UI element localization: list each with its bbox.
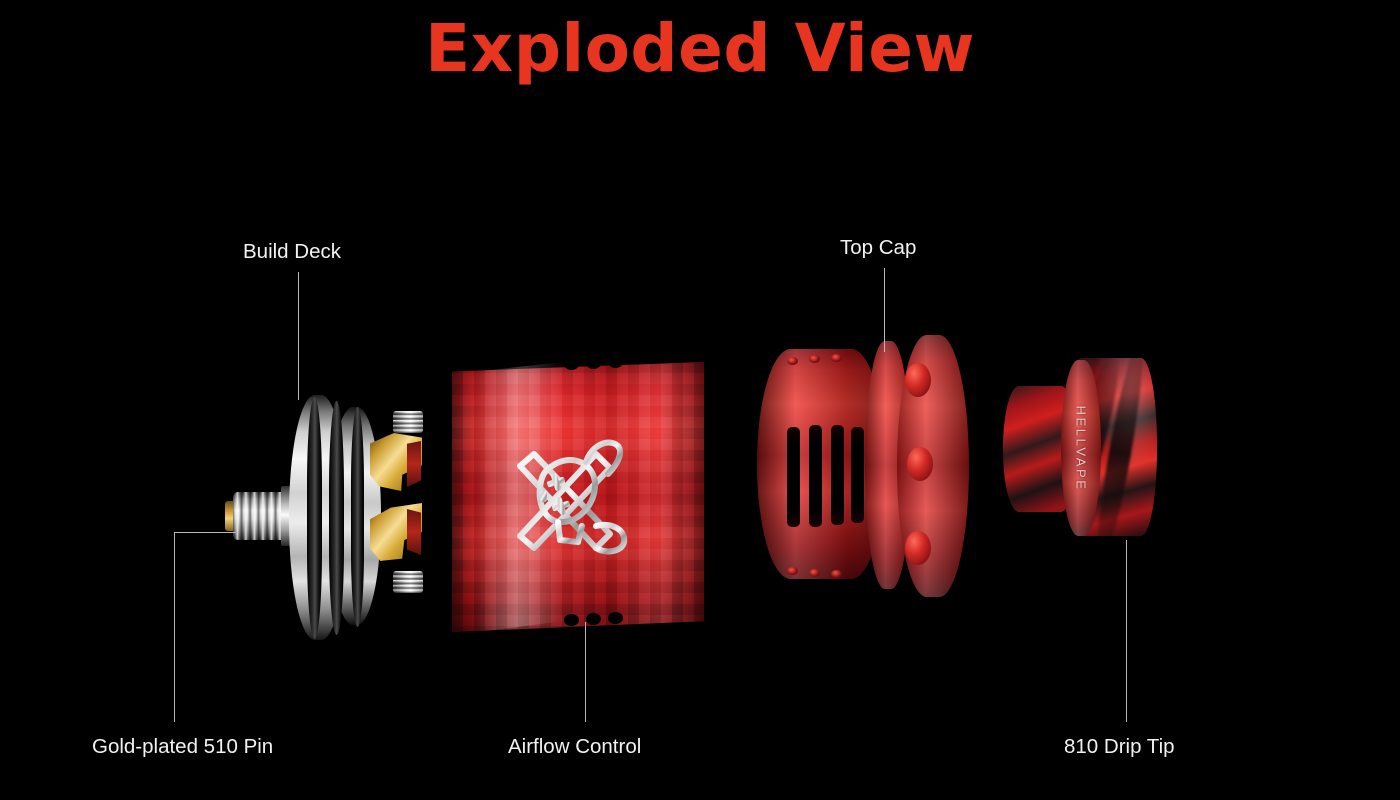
callout-label-airflow-control: Airflow Control: [508, 735, 641, 759]
leader-line-build-deck: [298, 272, 299, 400]
callout-label-build-deck: Build Deck: [243, 240, 341, 264]
component-build-deck[interactable]: [225, 385, 425, 650]
leader-line-airflow-control: [585, 622, 586, 722]
rim-vent-hole: [809, 355, 820, 363]
leader-line-top-cap: [884, 268, 885, 352]
leader-line-510-pin-vertical: [174, 532, 175, 722]
callout-label-top-cap: Top Cap: [840, 236, 916, 260]
hellvape-skull-logo-icon: [500, 422, 640, 572]
rim-notch: [564, 614, 579, 626]
leader-line-drip-tip: [1126, 540, 1127, 722]
post-insulator: [407, 509, 421, 555]
o-ring: [329, 401, 344, 635]
knurl-dimple: [905, 531, 931, 565]
rim-notch: [586, 613, 601, 625]
knurl-dimple: [905, 363, 931, 397]
callout-label-drip-tip: 810 Drip Tip: [1064, 735, 1175, 759]
post-screw: [393, 571, 423, 593]
brand-engraving: HELLVAPE: [1061, 360, 1101, 536]
post-screw: [393, 411, 423, 433]
knurl-dimple: [907, 447, 933, 481]
rim-vent-hole: [787, 357, 798, 365]
airflow-slot: [851, 427, 864, 523]
rim-notch: [608, 612, 623, 624]
airflow-slot: [831, 425, 844, 525]
brand-text: HELLVAPE: [1074, 405, 1089, 491]
o-ring: [307, 397, 322, 639]
page-title: Exploded View: [0, 10, 1400, 87]
callout-label-510-pin: Gold-plated 510 Pin: [92, 735, 273, 759]
rim-vent-hole: [809, 569, 820, 577]
o-ring: [351, 407, 364, 627]
component-airflow-control[interactable]: [452, 362, 704, 632]
airflow-slot: [809, 425, 822, 527]
rim-vent-hole: [787, 567, 798, 575]
component-drip-tip[interactable]: HELLVAPE: [1003, 358, 1163, 543]
leader-line-510-pin-horizontal: [174, 532, 236, 533]
rim-notch: [608, 356, 623, 368]
rim-notch: [564, 358, 579, 370]
component-top-cap[interactable]: [757, 335, 972, 600]
rim-vent-hole: [831, 354, 842, 362]
rim-notch: [586, 357, 601, 369]
exploded-view-diagram: Exploded View: [0, 0, 1400, 800]
rim-vent-hole: [831, 570, 842, 578]
airflow-slot: [787, 427, 800, 527]
post-insulator: [407, 441, 421, 487]
